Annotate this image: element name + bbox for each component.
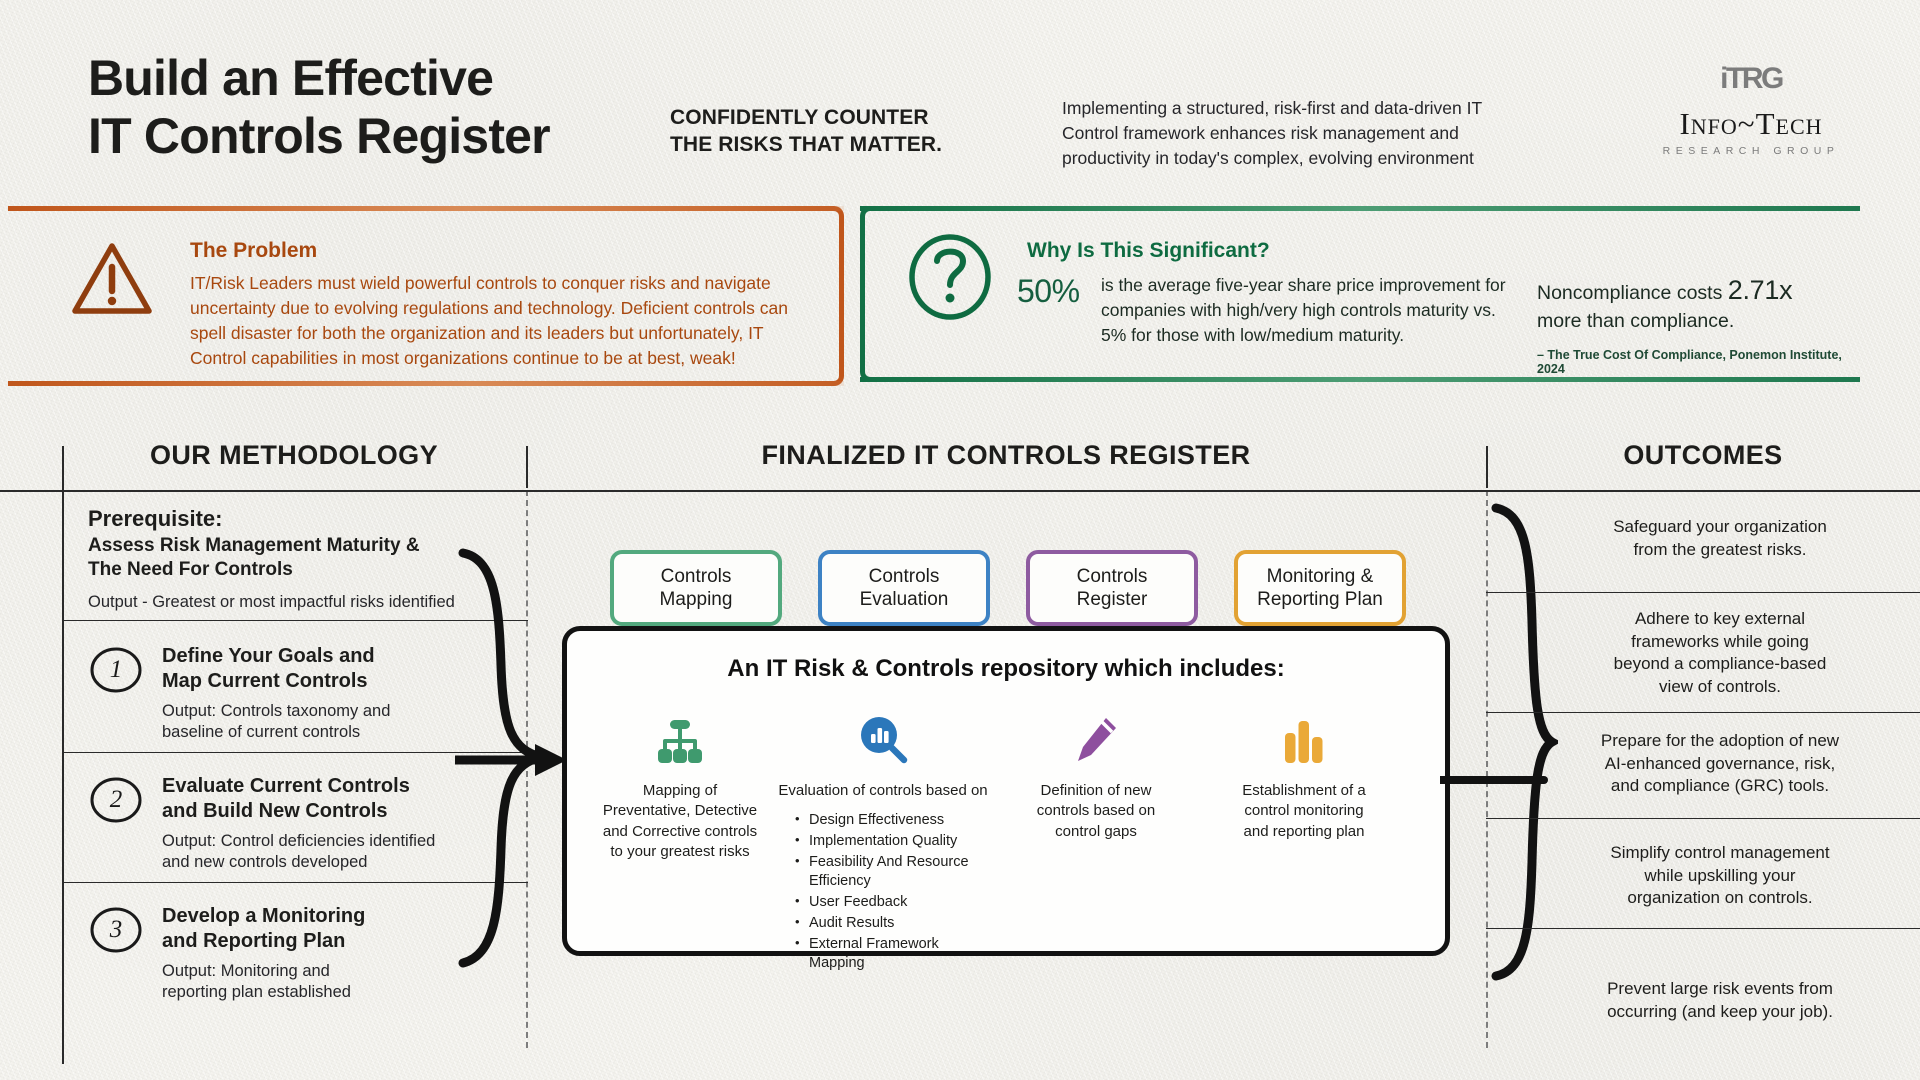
arrow-into-register-icon (455, 730, 575, 790)
stat-description: is the average five-year share price imp… (1101, 273, 1507, 348)
itrg-logo: iTRG (1636, 64, 1866, 94)
page-title: Build an Effective IT Controls Register (88, 50, 550, 165)
prerequisite-subtitle: Assess Risk Management Maturity & The Ne… (88, 534, 508, 583)
register-tab-controls-mapping[interactable]: Controls Mapping (610, 550, 782, 626)
column-heading-register: FINALIZED IT CONTROLS REGISTER (526, 440, 1486, 471)
column-heading-methodology: OUR METHODOLOGY (62, 440, 526, 471)
cost-prefix: Noncompliance costs (1537, 282, 1728, 304)
step-number-2: 2 (88, 776, 144, 824)
heading-rule-left (0, 490, 528, 492)
step-number-circle-1: 1 (88, 646, 144, 694)
significance-callout: Why Is This Significant? 50% is the aver… (860, 206, 1860, 382)
problem-text: IT/Risk Leaders must wield powerful cont… (190, 271, 810, 371)
warning-triangle-icon (70, 239, 154, 319)
outcome-item-4: Simplify control management while upskil… (1540, 842, 1900, 910)
list-item: Design Effectiveness (795, 811, 997, 831)
repository-pillar-definition: Definition of new controls based on cont… (997, 709, 1195, 842)
heading-rule-mid (528, 490, 1486, 492)
list-item: External Framework Mapping (795, 935, 997, 974)
question-mark-icon (905, 231, 995, 323)
prerequisite-block: Prerequisite: Assess Risk Management Mat… (88, 506, 508, 612)
prerequisite-output: Output - Greatest or most impactful risk… (88, 593, 508, 612)
title-line-2: IT Controls Register (88, 108, 550, 166)
register-tab-controls-register[interactable]: Controls Register (1026, 550, 1198, 626)
outcome-item-5: Prevent large risk events from occurring… (1540, 978, 1900, 1023)
repository-title: An IT Risk & Controls repository which i… (567, 655, 1445, 683)
list-item: Implementation Quality (795, 832, 997, 852)
outcome-separator-3 (1486, 818, 1920, 819)
repository-panel: An IT Risk & Controls repository which i… (562, 626, 1450, 956)
pillar-text-mapping: Mapping of Preventative, Detective and C… (591, 781, 769, 862)
significance-stat-row: 50% is the average five-year share price… (1017, 273, 1507, 348)
repository-pillar-mapping: Mapping of Preventative, Detective and C… (591, 709, 769, 862)
problem-title: The Problem (190, 239, 317, 263)
list-item: Feasibility And Resource Efficiency (795, 853, 997, 892)
compliance-cost-block: Noncompliance costs 2.71x more than comp… (1537, 273, 1857, 376)
pencil-icon (997, 709, 1195, 765)
list-item: User Feedback (795, 893, 997, 913)
step-number-circle-2: 2 (88, 776, 144, 824)
compliance-cost-text: Noncompliance costs 2.71x more than comp… (1537, 273, 1857, 334)
outcome-item-3: Prepare for the adoption of new AI-enhan… (1540, 730, 1900, 798)
cost-multiple: 2.71x (1728, 275, 1793, 305)
stat-value: 50% (1017, 273, 1080, 307)
register-tab-monitoring-plan[interactable]: Monitoring & Reporting Plan (1234, 550, 1406, 626)
outcome-separator-4 (1486, 928, 1920, 929)
three-column-section: OUR METHODOLOGY FINALIZED IT CONTROLS RE… (0, 430, 1920, 1080)
evaluation-criteria-list: Design Effectiveness Implementation Qual… (769, 811, 997, 974)
title-line-1: Build an Effective (88, 50, 493, 106)
header-subheading: Implementing a structured, risk-first an… (1062, 96, 1502, 171)
problem-callout: The Problem IT/Risk Leaders must wield p… (8, 206, 844, 386)
register-tab-controls-evaluation[interactable]: Controls Evaluation (818, 550, 990, 626)
tagline-line-1: CONFIDENTLY COUNTER (670, 105, 1000, 132)
step-number-3: 3 (88, 906, 144, 954)
repository-pillar-evaluation: Evaluation of controls based on Design E… (769, 709, 997, 975)
pillar-text-definition: Definition of new controls based on cont… (997, 781, 1195, 842)
logo-block: iTRG Info~Tech RESEARCH GROUP (1636, 64, 1866, 157)
column-heading-outcomes: OUTCOMES (1486, 440, 1920, 471)
outcome-item-1: Safeguard your organization from the gre… (1540, 516, 1900, 561)
prerequisite-label: Prerequisite: (88, 506, 508, 532)
significance-title: Why Is This Significant? (1027, 239, 1270, 263)
outcome-separator-1 (1486, 592, 1920, 593)
bar-chart-icon (1195, 709, 1413, 765)
tagline: CONFIDENTLY COUNTER THE RISKS THAT MATTE… (670, 105, 1000, 159)
pillar-text-monitoring: Establishment of a control monitoring an… (1195, 781, 1413, 842)
citation-source: – The True Cost Of Compliance, Ponemon I… (1537, 348, 1857, 376)
list-item: Audit Results (795, 914, 997, 934)
heading-rule-right (1486, 490, 1920, 492)
pillar-text-evaluation: Evaluation of controls based on (769, 781, 997, 801)
repository-pillar-monitoring: Establishment of a control monitoring an… (1195, 709, 1413, 842)
info-tech-logo: Info~Tech (1636, 108, 1866, 139)
step-number-1: 1 (88, 646, 144, 694)
step-number-circle-3: 3 (88, 906, 144, 954)
outcome-separator-2 (1486, 712, 1920, 713)
info-tech-logo-subtitle: RESEARCH GROUP (1636, 145, 1866, 157)
magnifier-chart-icon (769, 709, 997, 765)
tagline-line-2: THE RISKS THAT MATTER. (670, 132, 1000, 159)
cost-suffix: more than compliance. (1537, 310, 1734, 332)
header: Build an Effective IT Controls Register … (0, 0, 1920, 200)
outcome-item-2: Adhere to key external frameworks while … (1540, 608, 1900, 698)
hierarchy-map-icon (591, 709, 769, 765)
